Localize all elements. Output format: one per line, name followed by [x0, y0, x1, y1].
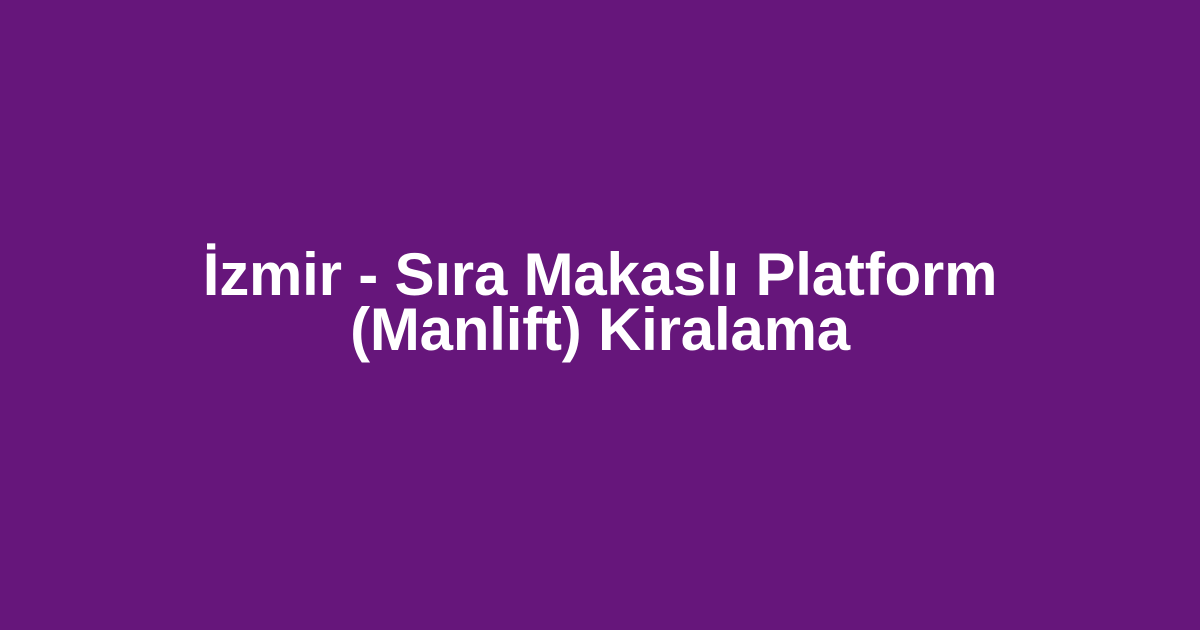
card-content-container: İzmir - Sıra Makaslı Platform (Manlift) … [0, 247, 1200, 357]
card-title: İzmir - Sıra Makaslı Platform (Manlift) … [110, 247, 1090, 357]
social-share-card: İzmir - Sıra Makaslı Platform (Manlift) … [0, 0, 1200, 630]
